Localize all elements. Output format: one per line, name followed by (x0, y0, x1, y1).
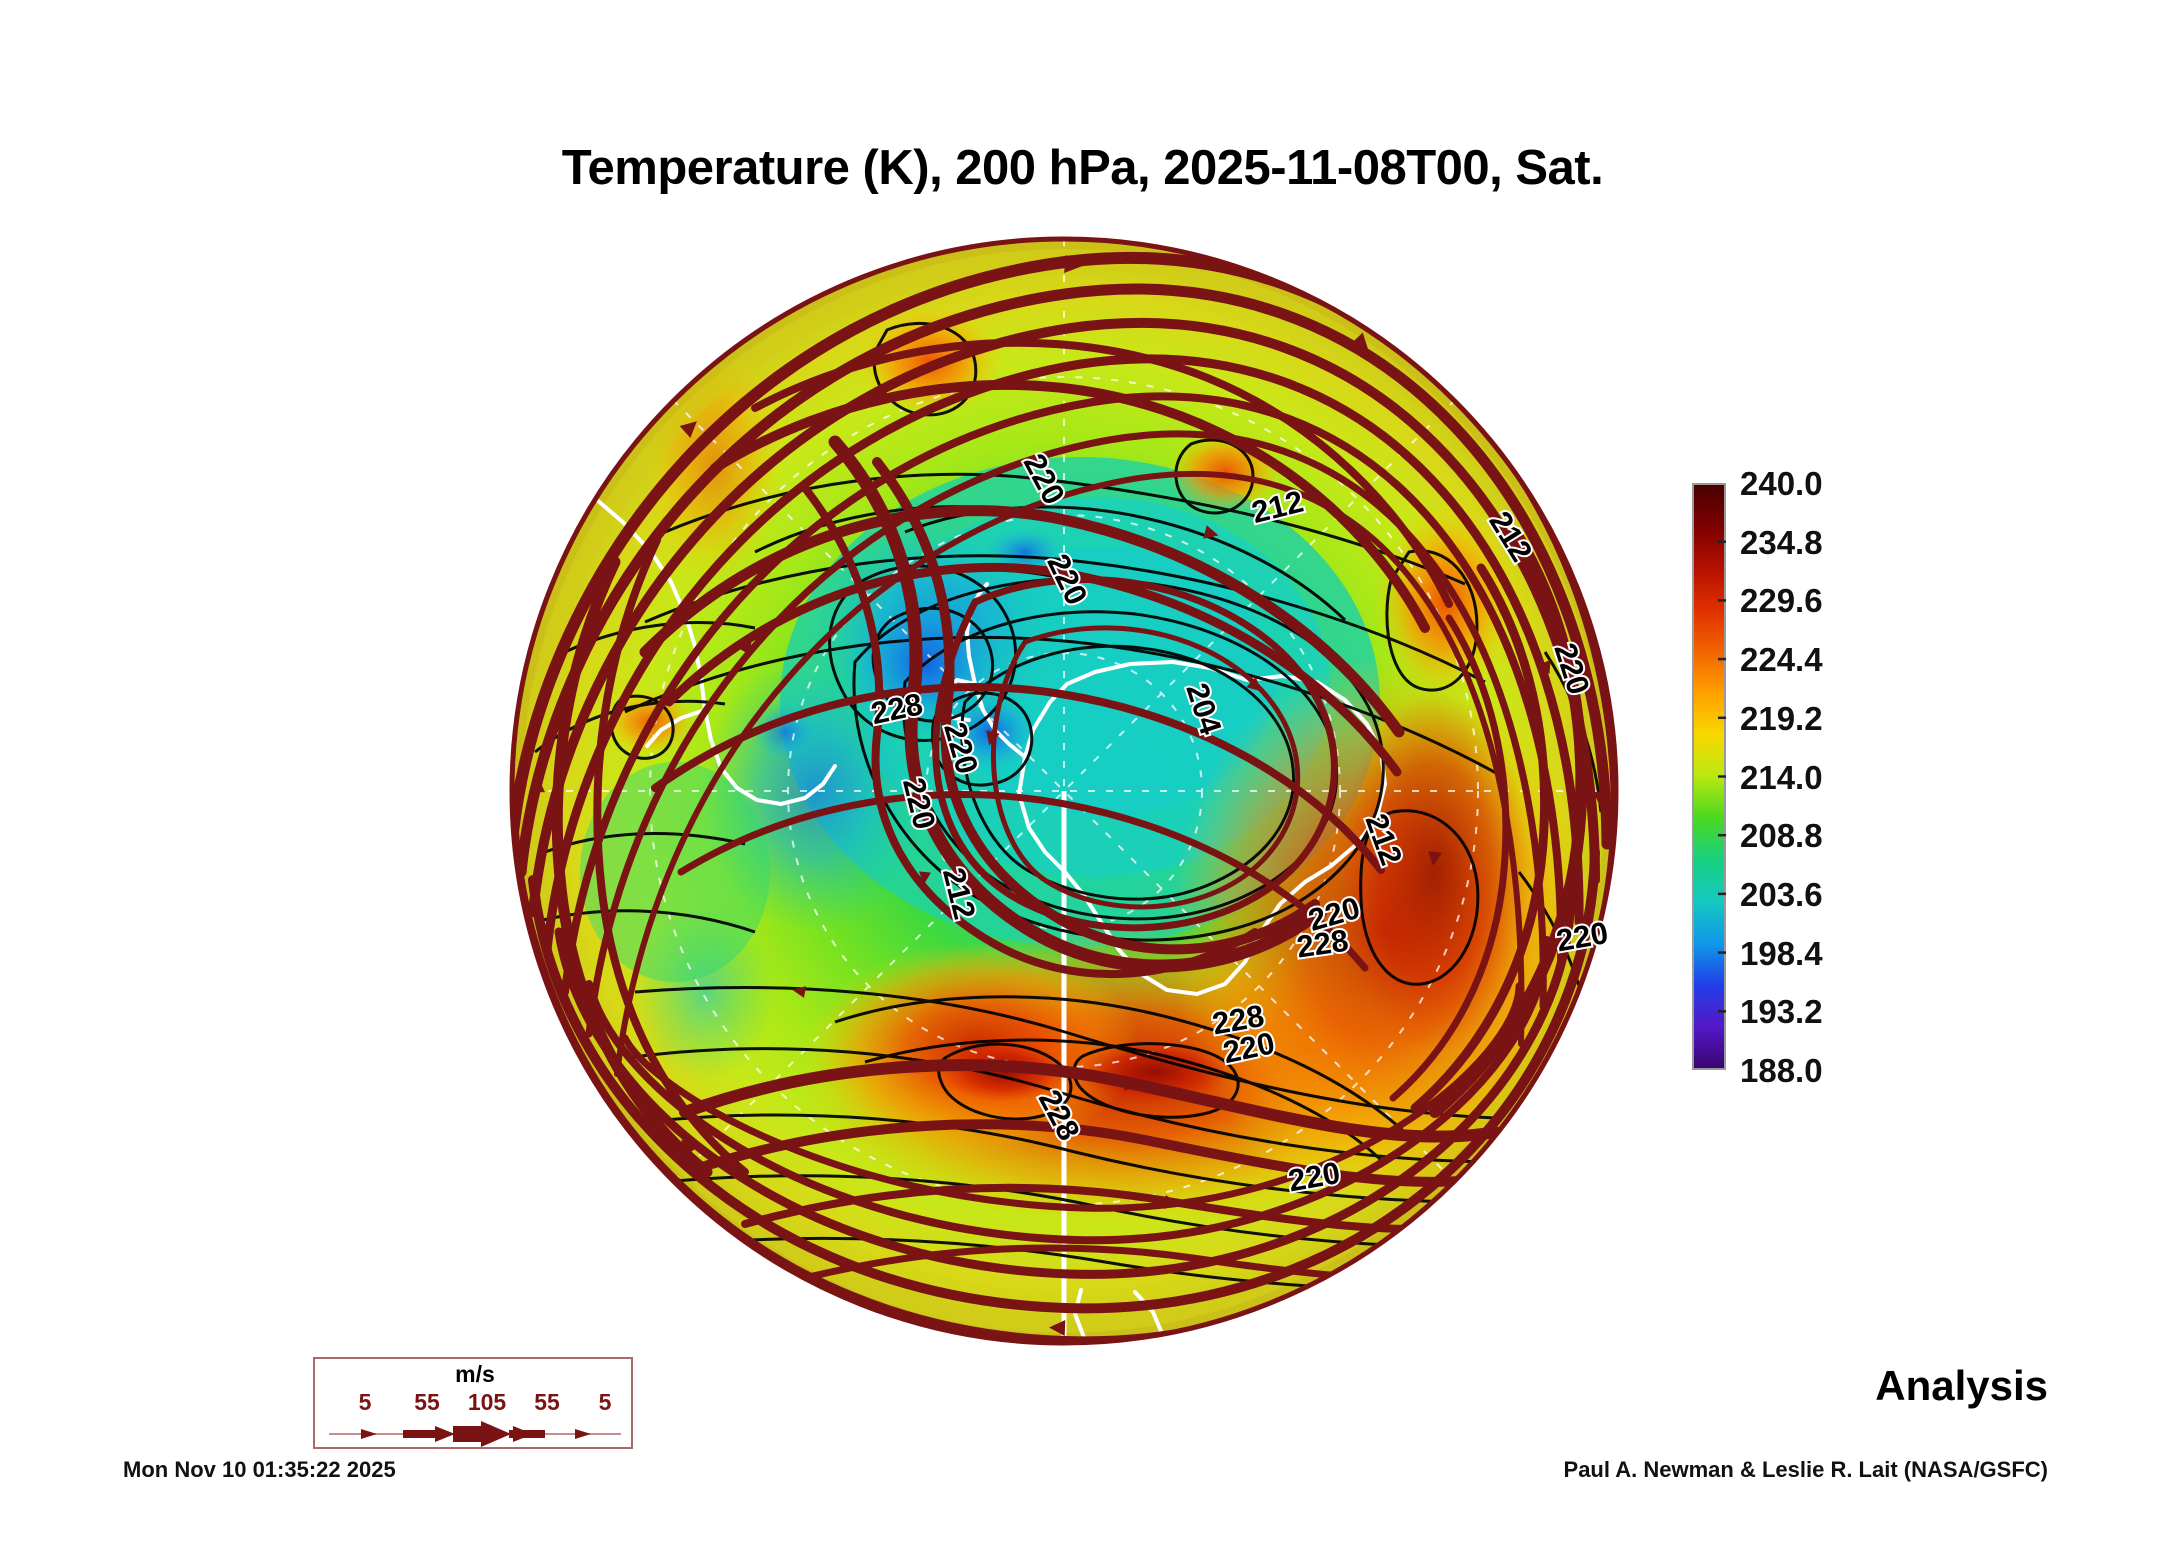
colorbar-tick-label: 234.8 (1740, 526, 1823, 559)
colorbar-labels: 240.0234.8229.6224.4219.2214.0208.8203.6… (1740, 465, 1940, 1095)
contour-label: 220 (1615, 560, 1623, 622)
author-credit: Paul A. Newman & Leslie R. Lait (NASA/GS… (1564, 1457, 2048, 1483)
wind-speed-legend: m/s 555105555 (313, 1357, 633, 1449)
colorbar-tick-label: 208.8 (1740, 819, 1823, 852)
analysis-label: Analysis (1875, 1362, 2048, 1410)
wind-legend-value: 55 (414, 1389, 440, 1416)
colorbar-tick-label: 203.6 (1740, 878, 1823, 911)
colorbar-tick-label: 240.0 (1740, 467, 1823, 500)
contour-label: 220 (1554, 915, 1611, 958)
colorbar-tick-label: 214.0 (1740, 761, 1823, 794)
colorbar-tick-label: 193.2 (1740, 995, 1823, 1028)
wind-legend-arrow-scale (315, 1421, 635, 1447)
colorbar-tick-label: 188.0 (1740, 1054, 1823, 1087)
wind-legend-value: 5 (599, 1389, 612, 1416)
wind-legend-value: 105 (468, 1389, 506, 1416)
render-timestamp: Mon Nov 10 01:35:22 2025 (123, 1457, 396, 1483)
wind-legend-value: 5 (359, 1389, 372, 1416)
map-canvas: 2122122202202202202202282202202042122122… (505, 232, 1623, 1350)
polar-map: 2122122202202202202202282202202042122122… (505, 232, 1623, 1350)
wind-legend-value: 55 (534, 1389, 560, 1416)
contour-label: 228 (1294, 923, 1350, 965)
colorbar-tick-label: 198.4 (1740, 937, 1823, 970)
colorbar-tick-label: 229.6 (1740, 584, 1823, 617)
wind-legend-unit: m/s (315, 1361, 635, 1388)
colorbar-tick-label: 219.2 (1740, 702, 1823, 735)
page-title: Temperature (K), 200 hPa, 2025-11-08T00,… (0, 140, 2165, 196)
colorbar-tick-label: 224.4 (1740, 643, 1823, 676)
colorbar-ticks (1692, 483, 1726, 1070)
